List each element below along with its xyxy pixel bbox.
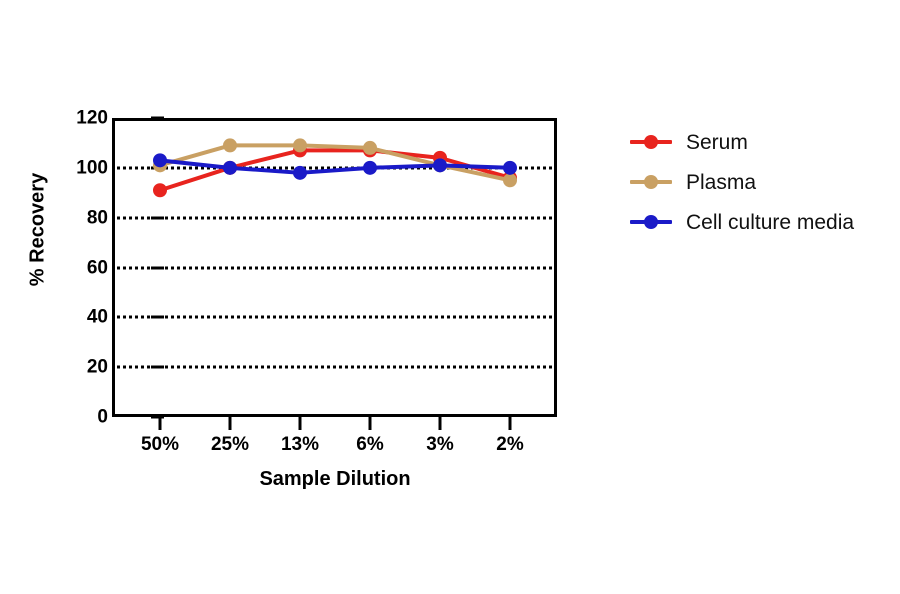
legend-dot xyxy=(644,215,658,229)
x-tick-mark xyxy=(369,417,372,430)
x-tick-mark xyxy=(439,417,442,430)
legend-label: Cell culture media xyxy=(686,212,854,233)
legend-item[interactable]: Serum xyxy=(630,122,892,162)
y-tick-label: 120 xyxy=(60,109,108,128)
y-axis-ticks: 120100806040200 xyxy=(52,0,108,594)
y-axis-title: % Recovery xyxy=(27,130,50,330)
legend-marker-icon xyxy=(630,133,672,151)
legend-dot xyxy=(644,135,658,149)
y-tick-label: 40 xyxy=(60,308,108,327)
legend-dot xyxy=(644,175,658,189)
y-tick-label: 60 xyxy=(60,258,108,277)
x-tick-mark xyxy=(229,417,232,430)
legend-label: Serum xyxy=(686,132,748,153)
y-tick-label: 80 xyxy=(60,208,108,227)
y-tick-label: 0 xyxy=(60,408,108,427)
legend-item[interactable]: Plasma xyxy=(630,162,892,202)
legend-marker-icon xyxy=(630,173,672,191)
legend-label: Plasma xyxy=(686,172,756,193)
chart-figure: % Recovery 120100806040200 50%25%13%6%3%… xyxy=(0,0,900,594)
chart-legend: SerumPlasmaCell culture media xyxy=(630,122,892,242)
plot-frame xyxy=(112,118,557,417)
legend-item[interactable]: Cell culture media xyxy=(630,202,892,242)
x-tick-label: 2% xyxy=(465,434,555,456)
legend-marker-icon xyxy=(630,213,672,231)
x-tick-mark xyxy=(299,417,302,430)
x-tick-mark xyxy=(509,417,512,430)
y-tick-label: 20 xyxy=(60,358,108,377)
y-tick-label: 100 xyxy=(60,158,108,177)
x-tick-mark xyxy=(159,417,162,430)
x-axis-title: Sample Dilution xyxy=(112,468,558,491)
